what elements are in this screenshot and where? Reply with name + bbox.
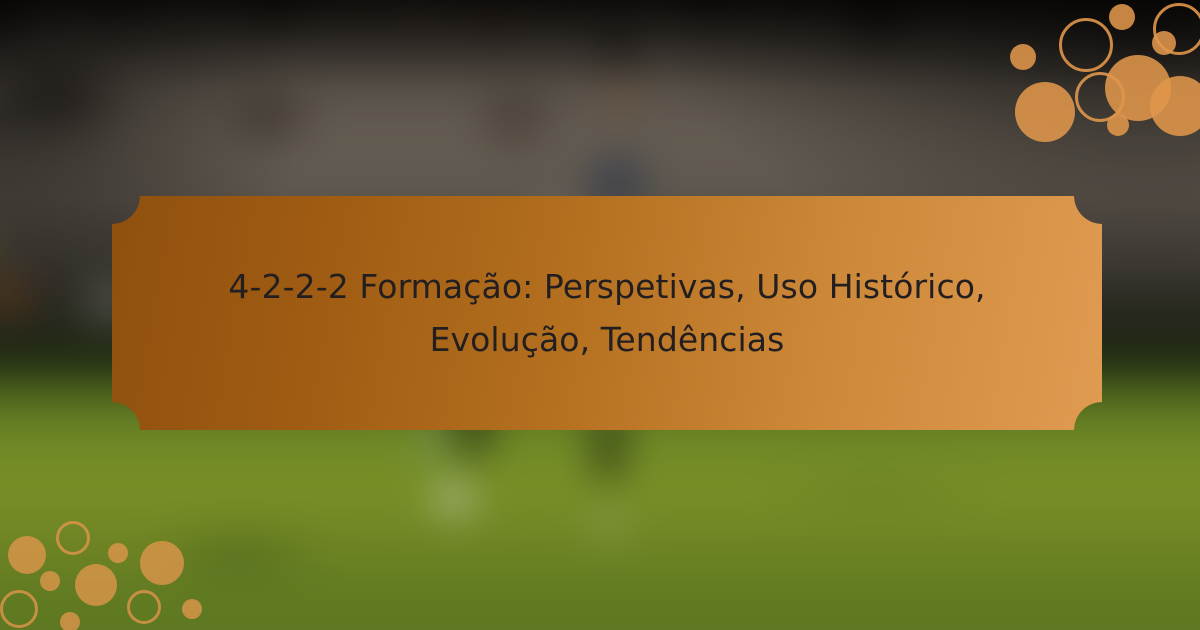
- page-title: 4-2-2-2 Formação: Perspetivas, Uso Histó…: [117, 260, 1097, 367]
- social-card: 4-2-2-2 Formação: Perspetivas, Uso Histó…: [0, 0, 1200, 630]
- title-banner: 4-2-2-2 Formação: Perspetivas, Uso Histó…: [112, 196, 1102, 430]
